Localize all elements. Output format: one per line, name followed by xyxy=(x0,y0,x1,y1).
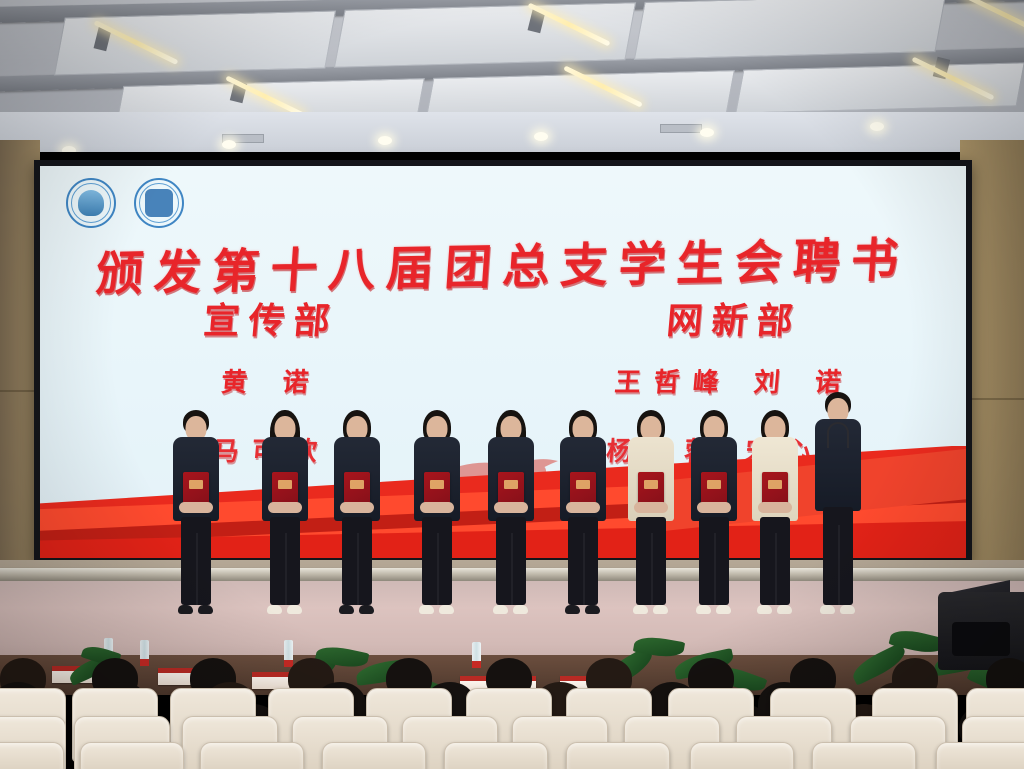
stage-person-recipient-2 xyxy=(255,410,315,614)
person-shoe xyxy=(716,605,731,614)
water-bottle xyxy=(140,640,149,666)
person-hands xyxy=(494,502,528,513)
person-shoe xyxy=(757,605,772,614)
person-hands xyxy=(758,502,792,513)
certificate-folder xyxy=(701,472,727,505)
name-left-1: 黄 诺 xyxy=(40,362,505,399)
ceiling-strip-light xyxy=(964,0,1024,40)
stage-person-recipient-1 xyxy=(166,410,226,614)
ceiling-panel xyxy=(735,62,1024,113)
person-hands xyxy=(179,502,213,513)
audience-seat xyxy=(322,742,426,769)
stage-person-recipient-4 xyxy=(407,410,467,614)
person-shoe xyxy=(178,605,193,614)
person-shoe xyxy=(267,605,282,614)
certificate-folder xyxy=(762,472,788,505)
person-legs xyxy=(823,507,853,605)
stage-person-recipient-5 xyxy=(481,410,541,614)
screen-logos xyxy=(66,178,184,228)
ceiling-vent xyxy=(660,124,702,133)
certificate-folder xyxy=(424,472,450,505)
department-label-right: 网新部 xyxy=(501,292,966,344)
stage-person-recipient-9 xyxy=(745,410,805,614)
person-legs xyxy=(636,517,666,605)
person-legs xyxy=(699,517,729,605)
ceremony-photo: 颁发第十八届团总支学生会聘书 宣传部 网新部 黄 诺 王哲峰 刘 诺 马可欣 杨… xyxy=(0,0,1024,769)
downlight xyxy=(62,146,76,152)
person-legs xyxy=(496,517,526,605)
person-hands xyxy=(566,502,600,513)
person-shoe xyxy=(439,605,454,614)
downlight xyxy=(534,132,548,141)
ceiling-panel xyxy=(634,0,946,60)
person-legs xyxy=(181,517,211,605)
ceiling xyxy=(0,0,1024,152)
person-legs xyxy=(270,517,300,605)
person-shoe xyxy=(565,605,580,614)
stage-person-host xyxy=(808,392,868,614)
downlight xyxy=(700,128,714,137)
person-legs xyxy=(422,517,452,605)
water-bottle xyxy=(472,642,481,668)
wall-seam xyxy=(0,390,38,392)
stage-person-recipient-6 xyxy=(553,410,613,614)
person-shoe xyxy=(339,605,354,614)
audience-seat xyxy=(812,742,916,769)
person-legs xyxy=(760,517,790,605)
person-hands xyxy=(634,502,668,513)
audience-seat xyxy=(200,742,304,769)
person-hands xyxy=(697,502,731,513)
department-row: 宣传部 网新部 xyxy=(40,292,966,344)
downlight xyxy=(222,140,236,149)
person-shoe xyxy=(493,605,508,614)
person-shoe xyxy=(198,605,213,614)
stage-person-recipient-8 xyxy=(684,410,744,614)
school-emblem-left-icon xyxy=(66,178,116,228)
person-shoe xyxy=(653,605,668,614)
audience-seat xyxy=(690,742,794,769)
stage-person-recipient-7 xyxy=(621,410,681,614)
certificate-folder xyxy=(638,472,664,505)
person-legs xyxy=(568,517,598,605)
person-shoe xyxy=(696,605,711,614)
person-shoe xyxy=(419,605,434,614)
person-shoe xyxy=(287,605,302,614)
downlight xyxy=(378,136,392,145)
school-emblem-right-icon xyxy=(134,178,184,228)
person-shoe xyxy=(585,605,600,614)
person-hands xyxy=(420,502,454,513)
certificate-folder xyxy=(570,472,596,505)
audience-seat xyxy=(0,742,64,769)
person-legs xyxy=(342,517,372,605)
downlight xyxy=(870,122,884,131)
audience-seat xyxy=(80,742,184,769)
person-shoe xyxy=(777,605,792,614)
person-shoe xyxy=(359,605,374,614)
person-shoe xyxy=(820,605,835,614)
audience-seat xyxy=(936,742,1024,769)
certificate-folder xyxy=(498,472,524,505)
person-shoe xyxy=(513,605,528,614)
ceiling-soffit xyxy=(0,112,1024,152)
audience-seat xyxy=(444,742,548,769)
person-hands xyxy=(268,502,302,513)
certificate-folder xyxy=(272,472,298,505)
certificate-folder xyxy=(344,472,370,505)
lanyard xyxy=(827,422,849,448)
stage-person-recipient-3 xyxy=(327,410,387,614)
certificate-folder xyxy=(183,472,209,505)
person-shoe xyxy=(633,605,648,614)
person-hands xyxy=(340,502,374,513)
department-label-left: 宣传部 xyxy=(40,292,505,344)
name-right-1: 王哲峰 刘 诺 xyxy=(501,362,966,399)
person-shoe xyxy=(840,605,855,614)
audience-seat xyxy=(566,742,670,769)
